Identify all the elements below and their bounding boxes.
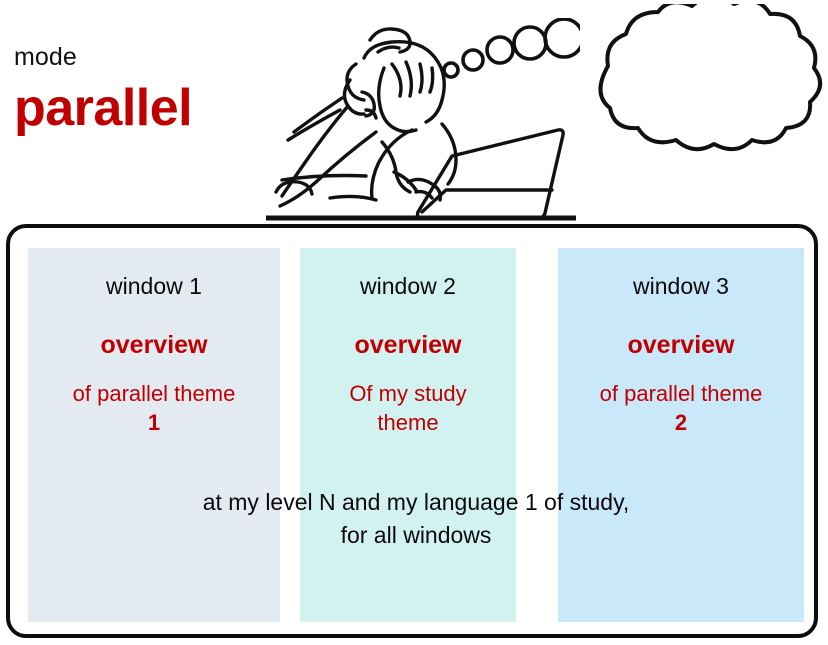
mode-label: mode <box>14 45 77 70</box>
window-panel-1-title: window 1 <box>28 274 280 299</box>
windows-container: window 1 overview of parallel theme1 win… <box>6 224 818 638</box>
window-panel-3[interactable]: window 3 overview of parallel theme2 <box>558 248 804 622</box>
window-panel-2-overview: overview <box>300 332 516 360</box>
window-panel-2[interactable]: window 2 overview Of my study theme <box>300 248 516 622</box>
window-panel-3-subtitle: of parallel theme2 <box>558 379 804 437</box>
window-panel-3-title: window 3 <box>558 274 804 299</box>
window-panel-2-subtitle: Of my study theme <box>300 379 516 437</box>
window-panel-3-subtitle-text: of parallel theme <box>600 381 763 406</box>
window-panel-1[interactable]: window 1 overview of parallel theme1 <box>28 248 280 622</box>
window-panel-3-overview: overview <box>558 332 804 360</box>
window-panel-2-title: window 2 <box>300 274 516 299</box>
window-panel-3-number: 2 <box>675 410 687 435</box>
header-region: mode parallel <box>0 0 828 222</box>
window-panel-1-subtitle: of parallel theme1 <box>28 379 280 437</box>
window-panel-1-number: 1 <box>148 410 160 435</box>
window-panel-1-overview: overview <box>28 332 280 360</box>
thought-bubble: I learn better by comparison <box>556 4 828 170</box>
page-title: parallel <box>14 82 192 134</box>
window-panel-1-subtitle-text: of parallel theme <box>73 381 236 406</box>
